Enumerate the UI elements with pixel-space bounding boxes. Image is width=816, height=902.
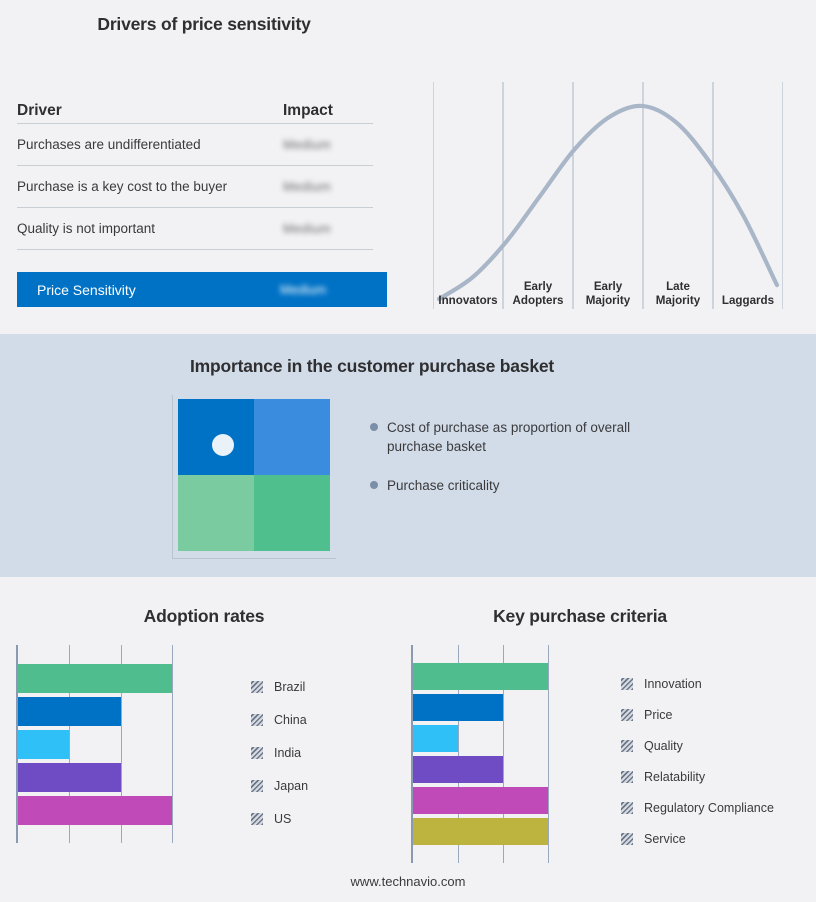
legend-item: Service	[621, 824, 774, 855]
driver-impact-value: Medium	[283, 221, 373, 236]
legend-item: Price	[621, 699, 774, 730]
bar-innovation	[413, 663, 548, 690]
column-header-driver: Driver	[17, 102, 283, 120]
bar-quality	[413, 725, 458, 752]
legend-label: US	[274, 812, 291, 826]
legend-label: India	[274, 746, 301, 760]
hatch-swatch-icon	[251, 813, 263, 825]
legend-label: Brazil	[274, 680, 305, 694]
bar-service	[413, 818, 548, 845]
bar-price	[413, 694, 503, 721]
drivers-panel-title: Drivers of price sensitivity	[0, 14, 408, 35]
drivers-table-header: Driver Impact	[17, 90, 373, 124]
adoption-rates-panel-title: Adoption rates	[0, 606, 408, 627]
table-row: Quality is not important Medium	[17, 208, 373, 250]
driver-impact-value: Medium	[283, 137, 373, 152]
drivers-table: Driver Impact Purchases are undifferenti…	[17, 90, 373, 250]
lifecycle-stage-late-majority: Late Majority	[643, 271, 713, 309]
basket-legend-label: Purchase criticality	[387, 476, 500, 495]
lifecycle-stage-innovators: Innovators	[433, 271, 503, 309]
panel-adoption-lifecycle: Adoption lifecycle Innovators Early Adop…	[408, 0, 816, 334]
bullet-icon	[370, 423, 378, 431]
bar-chart-gridline	[548, 645, 549, 863]
legend-item: China	[251, 703, 308, 736]
hatch-swatch-icon	[251, 780, 263, 792]
basket-legend-label: Cost of purchase as proportion of overal…	[387, 418, 642, 456]
criteria-panel-title: Key purchase criteria	[395, 606, 765, 627]
driver-name: Purchases are undifferentiated	[17, 137, 283, 152]
legend-label: Regulatory Compliance	[644, 801, 774, 815]
quadrant-grid	[178, 399, 330, 551]
quadrant-bottom-left	[178, 475, 254, 551]
basket-panel-title: Importance in the customer purchase bask…	[0, 356, 744, 377]
bar-chart-plot-area	[16, 645, 221, 843]
column-header-impact: Impact	[283, 102, 373, 120]
hatch-swatch-icon	[621, 678, 633, 690]
price-sensitivity-label: Price Sensitivity	[17, 282, 280, 298]
legend-item: Innovation	[621, 668, 774, 699]
legend-label: Innovation	[644, 677, 702, 691]
legend-item: Quality	[621, 730, 774, 761]
legend-label: China	[274, 713, 307, 727]
list-item: Purchase criticality	[370, 476, 670, 495]
price-sensitivity-impact-value: Medium	[280, 282, 387, 297]
basket-legend: Cost of purchase as proportion of overal…	[370, 418, 670, 515]
legend-label: Service	[644, 832, 686, 846]
bar-japan	[18, 763, 121, 792]
bar-india	[18, 730, 69, 759]
adoption-rates-chart: BrazilChinaIndiaJapanUS	[16, 645, 406, 845]
legend-item: US	[251, 802, 308, 835]
table-row: Purchase is a key cost to the buyer Medi…	[17, 166, 373, 208]
bar-chart-plot-area	[411, 645, 591, 863]
bar-brazil	[18, 664, 172, 693]
bar-us	[18, 796, 172, 825]
list-item: Cost of purchase as proportion of overal…	[370, 418, 670, 456]
legend-item: Brazil	[251, 670, 308, 703]
hatch-swatch-icon	[251, 714, 263, 726]
purchase-basket-quadrant-chart	[178, 399, 330, 551]
quadrant-position-marker	[212, 434, 234, 456]
quadrant-bottom-right	[254, 475, 330, 551]
quadrant-axis-vertical	[172, 395, 173, 558]
quadrant-axis-horizontal	[172, 558, 336, 559]
legend-item: Regulatory Compliance	[621, 793, 774, 824]
lifecycle-stage-early-majority: Early Majority	[573, 271, 643, 309]
legend-item: India	[251, 736, 308, 769]
driver-impact-value: Medium	[283, 179, 373, 194]
hatch-swatch-icon	[251, 681, 263, 693]
lifecycle-stage-early-adopters: Early Adopters	[503, 271, 573, 309]
legend-label: Price	[644, 708, 672, 722]
hatch-swatch-icon	[251, 747, 263, 759]
lifecycle-stage-laggards: Laggards	[713, 271, 783, 309]
quadrant-top-right	[254, 399, 330, 475]
hatch-swatch-icon	[621, 833, 633, 845]
bar-chart-legend: InnovationPriceQualityRelatabilityRegula…	[621, 668, 774, 855]
legend-item: Japan	[251, 769, 308, 802]
legend-label: Quality	[644, 739, 683, 753]
bullet-icon	[370, 481, 378, 489]
key-purchase-criteria-chart: InnovationPriceQualityRelatabilityRegula…	[411, 645, 811, 863]
bar-china	[18, 697, 121, 726]
legend-label: Japan	[274, 779, 308, 793]
panel-drivers-of-price-sensitivity: Drivers of price sensitivity Driver Impa…	[0, 0, 408, 334]
footer-url: www.technavio.com	[0, 874, 816, 889]
hatch-swatch-icon	[621, 709, 633, 721]
bar-chart-gridline	[172, 645, 173, 843]
bar-chart-legend: BrazilChinaIndiaJapanUS	[251, 670, 308, 835]
legend-label: Relatability	[644, 770, 705, 784]
bar-regulatory-compliance	[413, 787, 548, 814]
table-row: Purchases are undifferentiated Medium	[17, 124, 373, 166]
hatch-swatch-icon	[621, 802, 633, 814]
hatch-swatch-icon	[621, 740, 633, 752]
driver-name: Purchase is a key cost to the buyer	[17, 179, 283, 194]
driver-name: Quality is not important	[17, 221, 283, 236]
legend-item: Relatability	[621, 762, 774, 793]
lifecycle-stage-labels: Innovators Early Adopters Early Majority…	[433, 271, 783, 309]
hatch-swatch-icon	[621, 771, 633, 783]
price-sensitivity-summary-row: Price Sensitivity Medium	[17, 272, 387, 307]
bar-relatability	[413, 756, 503, 783]
